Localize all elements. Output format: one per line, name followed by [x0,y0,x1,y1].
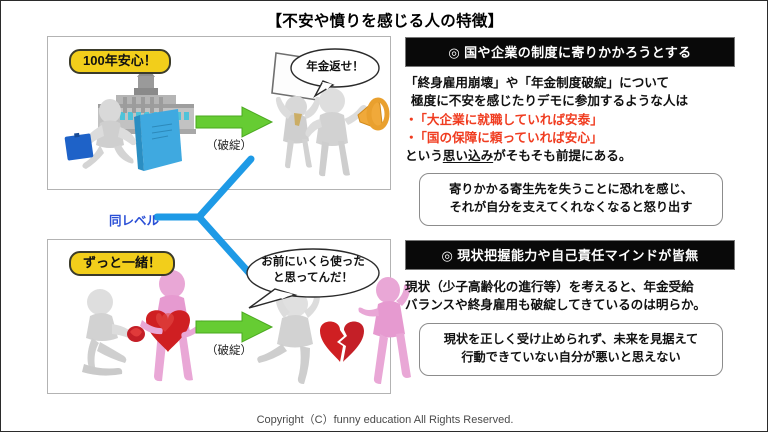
section-header-2: ◎ 現状把握能力や自己責任マインドが皆無 [405,240,735,270]
section1-line3: という思い込みがそもそも前提にある。 [405,147,735,165]
section1-bullet-2: ・「国の保障に頼っていれば安心」 [405,129,735,147]
callout-box-2: 現状を正しく受け止められず、未来を見据えて 行動できていない自分が悪いと思えない [419,323,723,375]
page-title: 【不安や憤りを感じる人の特徴】 [1,9,768,31]
callout-box-1: 寄りかかる寄生先を失うことに恐れを感じ、 それが自分を支えてくれなくなると怒り出… [419,173,723,225]
copyright-footer: Copyright（C）funny education All Rights R… [1,411,768,427]
badge-100-years: 100年安心！ [69,49,171,74]
callout-box-2-line1: 現状を正しく受け止められず、未来を見据えて [430,331,712,349]
bullet-dot-icon: ・ [405,113,421,127]
section1-line1: 「終身雇用崩壊」や「年金制度破綻」について [405,74,735,92]
section1-bullet-1: ・「大企業に就職していれば安泰」 [405,111,735,129]
section-header-1: ◎ 国や企業の制度に寄りかかろうとする [405,37,735,67]
breakdown-label-bottom: （破綻） [206,342,252,358]
section1-line2: 極度に不安を感じたりデモに参加するような人は [405,92,735,110]
running-businessman-icon [66,99,144,173]
section2-line2: バランスや終身雇用も破綻してきているのは明らか。 [405,296,735,314]
speech-text-pension: 年金返せ！ [295,60,375,74]
section2-line1: 現状（少子高齢化の進行等）を考えると、年金受給 [405,278,735,296]
section1-underlined-term: 思い込み [443,149,493,163]
callout-box-2-line2: 行動できていない自分が悪いと思えない [430,349,712,367]
breakdown-label-top: （破綻） [206,137,252,153]
callout-box-1-line1: 寄りかかる寄生先を失うことに恐れを感じ、 [430,181,712,199]
speech-text-angry-line1: お前にいくら使った [249,255,377,269]
slide-root: 【不安や憤りを感じる人の特徴】 [0,0,768,432]
same-level-label: 同レベル [109,210,159,229]
speech-text-angry-line2: と思ってんだ！ [249,271,377,285]
breakdown-arrow-bottom [196,312,272,342]
right-content-column: ◎ 国や企業の制度に寄りかかろうとする 「終身雇用崩壊」や「年金制度破綻」につい… [405,37,735,376]
breakdown-arrow-top [196,107,272,137]
megaphone-figure-icon [302,85,388,177]
bullet-dot-icon: ・ [405,131,421,145]
badge-always-together: ずっと一緒！ [69,251,175,276]
callout-box-1-line2: それが自分を支えてくれなくなると怒り出す [430,199,712,217]
